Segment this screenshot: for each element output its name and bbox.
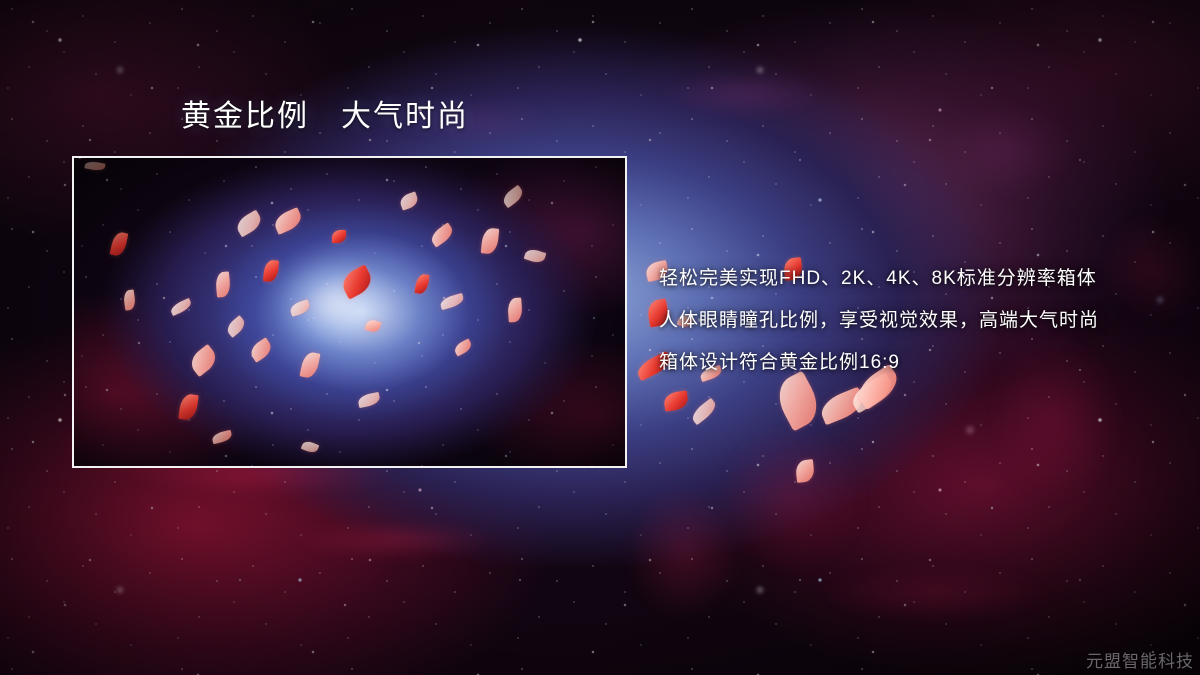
description-line-1: 轻松完美实现FHD、2K、4K、8K标准分辨率箱体 [659, 258, 1179, 300]
panel-vignette [74, 158, 625, 466]
petal [663, 390, 689, 411]
petal [795, 459, 815, 483]
slide-canvas: 黄金比例 大气时尚 轻松完美实现FHD、2K、4K、8K标准分辨率箱体 人体眼睛… [0, 0, 1200, 675]
panel-image [74, 158, 625, 466]
description-line-3: 箱体设计符合黄金比例16:9 [659, 342, 1179, 384]
feature-description: 轻松完美实现FHD、2K、4K、8K标准分辨率箱体 人体眼睛瞳孔比例，享受视觉效… [659, 258, 1179, 384]
description-line-2: 人体眼睛瞳孔比例，享受视觉效果，高端大气时尚 [659, 300, 1179, 342]
petal [817, 387, 867, 426]
company-watermark: 元盟智能科技 [1086, 647, 1194, 672]
galaxy-preview-panel [72, 156, 627, 468]
petal [689, 398, 719, 425]
page-title: 黄金比例 大气时尚 [181, 100, 469, 133]
